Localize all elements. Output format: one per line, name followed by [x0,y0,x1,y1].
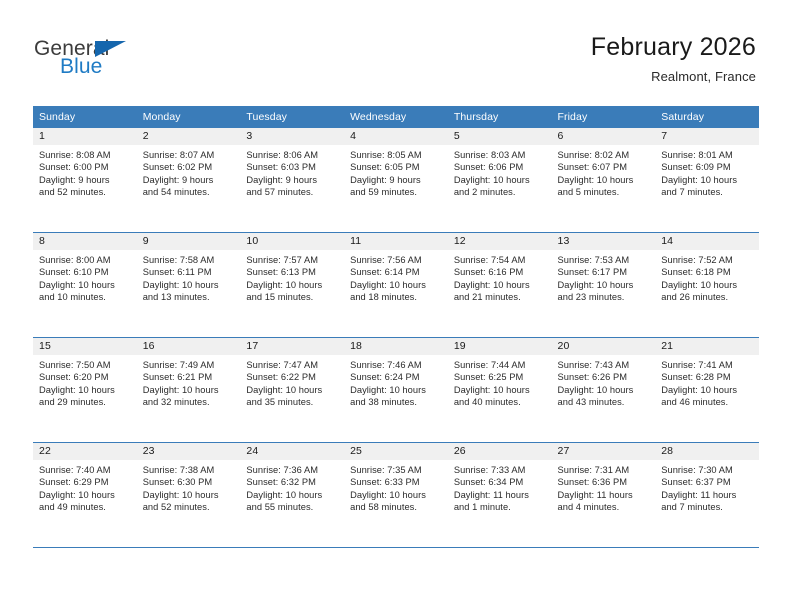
daylight-text-line1: Daylight: 10 hours [39,384,132,396]
daylight-text-line2: and 54 minutes. [143,186,236,198]
day-cell[interactable]: 27 Sunrise: 7:31 AM Sunset: 6:36 PM Dayl… [552,443,656,548]
sunrise-text: Sunrise: 7:43 AM [558,359,651,371]
sunset-text: Sunset: 6:10 PM [39,266,132,278]
day-number: 15 [33,338,137,355]
day-cell[interactable]: 22 Sunrise: 7:40 AM Sunset: 6:29 PM Dayl… [33,443,137,548]
day-cell[interactable]: 23 Sunrise: 7:38 AM Sunset: 6:30 PM Dayl… [137,443,241,548]
daylight-text-line1: Daylight: 10 hours [558,384,651,396]
daylight-text-line2: and 46 minutes. [661,396,754,408]
day-details: Sunrise: 7:50 AM Sunset: 6:20 PM Dayligh… [33,355,137,409]
day-number: 14 [655,233,759,250]
weekday-header-thursday: Thursday [448,106,552,128]
sunset-text: Sunset: 6:29 PM [39,476,132,488]
location-subtitle: Realmont, France [591,69,756,84]
day-cell[interactable]: 21 Sunrise: 7:41 AM Sunset: 6:28 PM Dayl… [655,338,759,443]
daylight-text-line1: Daylight: 10 hours [246,279,339,291]
sunrise-text: Sunrise: 8:07 AM [143,149,236,161]
daylight-text-line1: Daylight: 10 hours [350,384,443,396]
sunset-text: Sunset: 6:24 PM [350,371,443,383]
daylight-text-line2: and 26 minutes. [661,291,754,303]
daylight-text-line1: Daylight: 10 hours [558,279,651,291]
day-details: Sunrise: 7:43 AM Sunset: 6:26 PM Dayligh… [552,355,656,409]
day-cell[interactable]: 9 Sunrise: 7:58 AM Sunset: 6:11 PM Dayli… [137,233,241,338]
day-number: 20 [552,338,656,355]
calendar-page: General Blue February 2026 Realmont, Fra… [0,0,792,612]
sunrise-text: Sunrise: 7:33 AM [454,464,547,476]
sunrise-text: Sunrise: 7:50 AM [39,359,132,371]
day-cell[interactable]: 15 Sunrise: 7:50 AM Sunset: 6:20 PM Dayl… [33,338,137,443]
daylight-text-line1: Daylight: 11 hours [454,489,547,501]
sunset-text: Sunset: 6:21 PM [143,371,236,383]
sunset-text: Sunset: 6:20 PM [39,371,132,383]
day-number: 3 [240,128,344,145]
day-number: 25 [344,443,448,460]
day-number: 2 [137,128,241,145]
day-cell[interactable]: 24 Sunrise: 7:36 AM Sunset: 6:32 PM Dayl… [240,443,344,548]
daylight-text-line1: Daylight: 10 hours [661,174,754,186]
day-cell[interactable]: 26 Sunrise: 7:33 AM Sunset: 6:34 PM Dayl… [448,443,552,548]
day-cell[interactable]: 20 Sunrise: 7:43 AM Sunset: 6:26 PM Dayl… [552,338,656,443]
daylight-text-line2: and 52 minutes. [143,501,236,513]
day-details: Sunrise: 8:01 AM Sunset: 6:09 PM Dayligh… [655,145,759,199]
day-number: 4 [344,128,448,145]
day-details: Sunrise: 7:36 AM Sunset: 6:32 PM Dayligh… [240,460,344,514]
day-details: Sunrise: 8:07 AM Sunset: 6:02 PM Dayligh… [137,145,241,199]
sunrise-text: Sunrise: 7:58 AM [143,254,236,266]
daylight-text-line1: Daylight: 11 hours [661,489,754,501]
calendar-week-row: 8 Sunrise: 8:00 AM Sunset: 6:10 PM Dayli… [33,233,759,338]
day-number: 10 [240,233,344,250]
day-details: Sunrise: 8:08 AM Sunset: 6:00 PM Dayligh… [33,145,137,199]
day-details: Sunrise: 7:49 AM Sunset: 6:21 PM Dayligh… [137,355,241,409]
day-cell[interactable]: 3 Sunrise: 8:06 AM Sunset: 6:03 PM Dayli… [240,128,344,233]
sunset-text: Sunset: 6:06 PM [454,161,547,173]
day-details: Sunrise: 8:05 AM Sunset: 6:05 PM Dayligh… [344,145,448,199]
sunset-text: Sunset: 6:30 PM [143,476,236,488]
calendar-body: 1 Sunrise: 8:08 AM Sunset: 6:00 PM Dayli… [33,128,759,548]
daylight-text-line1: Daylight: 10 hours [454,384,547,396]
day-details: Sunrise: 7:57 AM Sunset: 6:13 PM Dayligh… [240,250,344,304]
day-details: Sunrise: 8:00 AM Sunset: 6:10 PM Dayligh… [33,250,137,304]
sunrise-text: Sunrise: 8:05 AM [350,149,443,161]
day-cell[interactable]: 14 Sunrise: 7:52 AM Sunset: 6:18 PM Dayl… [655,233,759,338]
sunrise-text: Sunrise: 7:54 AM [454,254,547,266]
day-details: Sunrise: 7:41 AM Sunset: 6:28 PM Dayligh… [655,355,759,409]
daylight-text-line2: and 35 minutes. [246,396,339,408]
sunrise-text: Sunrise: 7:47 AM [246,359,339,371]
daylight-text-line2: and 43 minutes. [558,396,651,408]
day-number: 5 [448,128,552,145]
sunrise-text: Sunrise: 7:31 AM [558,464,651,476]
weekday-header-sunday: Sunday [33,106,137,128]
sunrise-text: Sunrise: 7:35 AM [350,464,443,476]
day-number: 23 [137,443,241,460]
day-details: Sunrise: 8:03 AM Sunset: 6:06 PM Dayligh… [448,145,552,199]
title-block: February 2026 Realmont, France [591,33,756,84]
daylight-text-line2: and 5 minutes. [558,186,651,198]
sunrise-text: Sunrise: 7:53 AM [558,254,651,266]
day-number: 13 [552,233,656,250]
daylight-text-line2: and 29 minutes. [39,396,132,408]
day-number: 26 [448,443,552,460]
sunset-text: Sunset: 6:11 PM [143,266,236,278]
daylight-text-line1: Daylight: 10 hours [454,279,547,291]
daylight-text-line1: Daylight: 10 hours [350,279,443,291]
daylight-text-line2: and 32 minutes. [143,396,236,408]
daylight-text-line2: and 38 minutes. [350,396,443,408]
sunset-text: Sunset: 6:03 PM [246,161,339,173]
day-number: 17 [240,338,344,355]
daylight-text-line2: and 2 minutes. [454,186,547,198]
page-title: February 2026 [591,33,756,62]
day-cell[interactable]: 7 Sunrise: 8:01 AM Sunset: 6:09 PM Dayli… [655,128,759,233]
day-cell[interactable]: 16 Sunrise: 7:49 AM Sunset: 6:21 PM Dayl… [137,338,241,443]
sunset-text: Sunset: 6:28 PM [661,371,754,383]
daylight-text-line1: Daylight: 9 hours [350,174,443,186]
daylight-text-line1: Daylight: 10 hours [454,174,547,186]
daylight-text-line1: Daylight: 10 hours [246,384,339,396]
daylight-text-line2: and 13 minutes. [143,291,236,303]
daylight-text-line2: and 59 minutes. [350,186,443,198]
calendar-week-row: 15 Sunrise: 7:50 AM Sunset: 6:20 PM Dayl… [33,338,759,443]
sunset-text: Sunset: 6:05 PM [350,161,443,173]
day-number: 1 [33,128,137,145]
daylight-text-line2: and 58 minutes. [350,501,443,513]
calendar-week-row: 1 Sunrise: 8:08 AM Sunset: 6:00 PM Dayli… [33,128,759,233]
sunset-text: Sunset: 6:18 PM [661,266,754,278]
day-details: Sunrise: 7:53 AM Sunset: 6:17 PM Dayligh… [552,250,656,304]
day-details: Sunrise: 8:02 AM Sunset: 6:07 PM Dayligh… [552,145,656,199]
day-number: 11 [344,233,448,250]
sunrise-text: Sunrise: 8:02 AM [558,149,651,161]
sunset-text: Sunset: 6:16 PM [454,266,547,278]
day-cell[interactable]: 28 Sunrise: 7:30 AM Sunset: 6:37 PM Dayl… [655,443,759,548]
sunrise-text: Sunrise: 8:03 AM [454,149,547,161]
triangle-flag-icon [95,41,126,57]
weekday-header-monday: Monday [137,106,241,128]
daylight-text-line1: Daylight: 9 hours [246,174,339,186]
day-cell[interactable]: 25 Sunrise: 7:35 AM Sunset: 6:33 PM Dayl… [344,443,448,548]
day-cell[interactable]: 10 Sunrise: 7:57 AM Sunset: 6:13 PM Dayl… [240,233,344,338]
daylight-text-line1: Daylight: 10 hours [39,279,132,291]
day-cell[interactable]: 5 Sunrise: 8:03 AM Sunset: 6:06 PM Dayli… [448,128,552,233]
day-details: Sunrise: 7:40 AM Sunset: 6:29 PM Dayligh… [33,460,137,514]
sunrise-text: Sunrise: 7:44 AM [454,359,547,371]
daylight-text-line2: and 23 minutes. [558,291,651,303]
day-cell[interactable]: 13 Sunrise: 7:53 AM Sunset: 6:17 PM Dayl… [552,233,656,338]
day-number: 27 [552,443,656,460]
sunrise-text: Sunrise: 7:52 AM [661,254,754,266]
day-cell[interactable]: 6 Sunrise: 8:02 AM Sunset: 6:07 PM Dayli… [552,128,656,233]
sunset-text: Sunset: 6:09 PM [661,161,754,173]
day-cell[interactable]: 19 Sunrise: 7:44 AM Sunset: 6:25 PM Dayl… [448,338,552,443]
day-number: 8 [33,233,137,250]
page-header: General Blue February 2026 Realmont, Fra… [0,0,792,100]
sunrise-text: Sunrise: 7:41 AM [661,359,754,371]
sunrise-text: Sunrise: 8:00 AM [39,254,132,266]
sunset-text: Sunset: 6:07 PM [558,161,651,173]
sunset-text: Sunset: 6:32 PM [246,476,339,488]
day-number: 12 [448,233,552,250]
day-cell[interactable]: 1 Sunrise: 8:08 AM Sunset: 6:00 PM Dayli… [33,128,137,233]
weekday-header-wednesday: Wednesday [344,106,448,128]
sunset-text: Sunset: 6:34 PM [454,476,547,488]
day-details: Sunrise: 7:38 AM Sunset: 6:30 PM Dayligh… [137,460,241,514]
daylight-text-line1: Daylight: 10 hours [558,174,651,186]
daylight-text-line1: Daylight: 10 hours [246,489,339,501]
day-details: Sunrise: 7:58 AM Sunset: 6:11 PM Dayligh… [137,250,241,304]
weekday-header-saturday: Saturday [655,106,759,128]
day-details: Sunrise: 7:44 AM Sunset: 6:25 PM Dayligh… [448,355,552,409]
daylight-text-line2: and 1 minute. [454,501,547,513]
day-number: 18 [344,338,448,355]
daylight-text-line2: and 52 minutes. [39,186,132,198]
day-cell[interactable]: 2 Sunrise: 8:07 AM Sunset: 6:02 PM Dayli… [137,128,241,233]
sunset-text: Sunset: 6:14 PM [350,266,443,278]
sunrise-text: Sunrise: 7:36 AM [246,464,339,476]
daylight-text-line2: and 15 minutes. [246,291,339,303]
day-number: 7 [655,128,759,145]
daylight-text-line2: and 4 minutes. [558,501,651,513]
sunset-text: Sunset: 6:36 PM [558,476,651,488]
brand-name-blue: Blue [60,56,109,77]
day-details: Sunrise: 7:46 AM Sunset: 6:24 PM Dayligh… [344,355,448,409]
daylight-text-line1: Daylight: 10 hours [350,489,443,501]
day-details: Sunrise: 7:30 AM Sunset: 6:37 PM Dayligh… [655,460,759,514]
daylight-text-line2: and 10 minutes. [39,291,132,303]
daylight-text-line1: Daylight: 10 hours [143,279,236,291]
day-number: 16 [137,338,241,355]
calendar-header-row: Sunday Monday Tuesday Wednesday Thursday… [33,106,759,128]
sunset-text: Sunset: 6:37 PM [661,476,754,488]
daylight-text-line1: Daylight: 10 hours [661,279,754,291]
day-details: Sunrise: 7:47 AM Sunset: 6:22 PM Dayligh… [240,355,344,409]
day-number: 22 [33,443,137,460]
sunrise-text: Sunrise: 7:38 AM [143,464,236,476]
day-cell[interactable]: 18 Sunrise: 7:46 AM Sunset: 6:24 PM Dayl… [344,338,448,443]
day-number: 9 [137,233,241,250]
sunrise-text: Sunrise: 7:49 AM [143,359,236,371]
sunset-text: Sunset: 6:25 PM [454,371,547,383]
daylight-text-line1: Daylight: 10 hours [143,384,236,396]
daylight-text-line1: Daylight: 11 hours [558,489,651,501]
day-number: 19 [448,338,552,355]
daylight-text-line2: and 55 minutes. [246,501,339,513]
weekday-header-tuesday: Tuesday [240,106,344,128]
day-number: 24 [240,443,344,460]
sunrise-text: Sunrise: 8:08 AM [39,149,132,161]
day-cell[interactable]: 8 Sunrise: 8:00 AM Sunset: 6:10 PM Dayli… [33,233,137,338]
calendar-week-row: 22 Sunrise: 7:40 AM Sunset: 6:29 PM Dayl… [33,443,759,548]
daylight-text-line1: Daylight: 10 hours [143,489,236,501]
sunrise-text: Sunrise: 7:56 AM [350,254,443,266]
day-details: Sunrise: 7:31 AM Sunset: 6:36 PM Dayligh… [552,460,656,514]
daylight-text-line2: and 7 minutes. [661,501,754,513]
sunrise-sunset-calendar: Sunday Monday Tuesday Wednesday Thursday… [33,106,759,548]
day-cell[interactable]: 11 Sunrise: 7:56 AM Sunset: 6:14 PM Dayl… [344,233,448,338]
day-details: Sunrise: 7:56 AM Sunset: 6:14 PM Dayligh… [344,250,448,304]
daylight-text-line1: Daylight: 10 hours [661,384,754,396]
sunrise-text: Sunrise: 7:57 AM [246,254,339,266]
daylight-text-line1: Daylight: 9 hours [143,174,236,186]
sunrise-text: Sunrise: 7:30 AM [661,464,754,476]
day-details: Sunrise: 8:06 AM Sunset: 6:03 PM Dayligh… [240,145,344,199]
daylight-text-line2: and 21 minutes. [454,291,547,303]
sunrise-text: Sunrise: 7:40 AM [39,464,132,476]
daylight-text-line2: and 49 minutes. [39,501,132,513]
day-details: Sunrise: 7:35 AM Sunset: 6:33 PM Dayligh… [344,460,448,514]
day-cell[interactable]: 17 Sunrise: 7:47 AM Sunset: 6:22 PM Dayl… [240,338,344,443]
day-details: Sunrise: 7:33 AM Sunset: 6:34 PM Dayligh… [448,460,552,514]
daylight-text-line2: and 18 minutes. [350,291,443,303]
daylight-text-line1: Daylight: 9 hours [39,174,132,186]
sunset-text: Sunset: 6:00 PM [39,161,132,173]
daylight-text-line1: Daylight: 10 hours [39,489,132,501]
day-number: 6 [552,128,656,145]
sunset-text: Sunset: 6:17 PM [558,266,651,278]
sunset-text: Sunset: 6:33 PM [350,476,443,488]
sunset-text: Sunset: 6:13 PM [246,266,339,278]
daylight-text-line2: and 57 minutes. [246,186,339,198]
weekday-header-friday: Friday [552,106,656,128]
sunset-text: Sunset: 6:26 PM [558,371,651,383]
day-number: 21 [655,338,759,355]
daylight-text-line2: and 40 minutes. [454,396,547,408]
sunrise-text: Sunrise: 8:06 AM [246,149,339,161]
sunset-text: Sunset: 6:22 PM [246,371,339,383]
daylight-text-line2: and 7 minutes. [661,186,754,198]
day-cell[interactable]: 4 Sunrise: 8:05 AM Sunset: 6:05 PM Dayli… [344,128,448,233]
brand-logo[interactable]: General Blue [34,38,109,77]
day-cell[interactable]: 12 Sunrise: 7:54 AM Sunset: 6:16 PM Dayl… [448,233,552,338]
day-number: 28 [655,443,759,460]
day-details: Sunrise: 7:52 AM Sunset: 6:18 PM Dayligh… [655,250,759,304]
sunrise-text: Sunrise: 8:01 AM [661,149,754,161]
sunrise-text: Sunrise: 7:46 AM [350,359,443,371]
sunset-text: Sunset: 6:02 PM [143,161,236,173]
day-details: Sunrise: 7:54 AM Sunset: 6:16 PM Dayligh… [448,250,552,304]
